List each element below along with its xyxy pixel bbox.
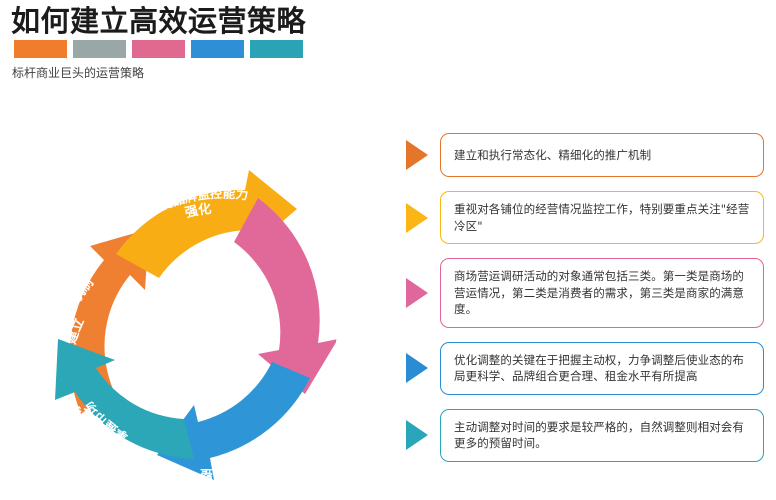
segment-pink-line1: 做好 <box>316 297 335 326</box>
segment-pink: 做好 商场营运调研工作 <box>234 198 349 394</box>
bullet-text-3: 商场营运调研活动的对象通常包括三类。第一类是商场的营运情况，第二类是消费者的需求… <box>454 268 750 318</box>
bullet-row-4: 优化调整的关键在于把握主动权，力争调整后使业态的布局更科学、品牌组合更合理、租金… <box>404 342 764 395</box>
page-title: 如何建立高效运营策略 <box>11 4 306 38</box>
swatch-strip <box>14 40 303 58</box>
play-arrow-icon-1 <box>404 138 430 172</box>
bullet-row-1: 建立和执行常态化、精细化的推广机制 <box>404 133 764 177</box>
swatch-gray <box>73 40 126 58</box>
bullet-text-2: 重视对各铺位的经营情况监控工作，特别要重点关注"经营冷区" <box>454 201 750 234</box>
bullet-row-2: 重视对各铺位的经营情况监控工作，特别要重点关注"经营冷区" <box>404 191 764 244</box>
bullet-text-1: 建立和执行常态化、精细化的推广机制 <box>454 147 651 164</box>
cycle-diagram: 建立 常态化营运推广机制 强化 关键品牌监控能力 做 <box>18 128 388 496</box>
slide-canvas: 如何建立高效运营策略 标杆商业巨头的运营策略 <box>0 0 776 500</box>
play-arrow-icon-5 <box>404 418 430 452</box>
segment-teal: 掌握市场 及租户的需求 <box>55 339 194 462</box>
page-subtitle: 标杆商业巨头的运营策略 <box>12 64 144 82</box>
play-arrow-icon-4 <box>404 351 430 385</box>
bullet-text-4: 优化调整的关键在于把握主动权，力争调整后使业态的布局更科学、品牌组合更合理、租金… <box>454 352 750 385</box>
bullet-box-3[interactable]: 商场营运调研活动的对象通常包括三类。第一类是商场的营运情况，第二类是消费者的需求… <box>440 258 764 328</box>
bullet-row-3: 商场营运调研活动的对象通常包括三类。第一类是商场的营运情况，第二类是消费者的需求… <box>404 258 764 328</box>
play-arrow-icon-3 <box>404 276 430 310</box>
swatch-blue <box>191 40 244 58</box>
bullet-box-1[interactable]: 建立和执行常态化、精细化的推广机制 <box>440 133 764 177</box>
bullet-list: 建立和执行常态化、精细化的推广机制 重视对各铺位的经营情况监控工作，特别要重点关… <box>404 133 764 476</box>
swatch-pink <box>132 40 185 58</box>
header: 如何建立高效运营策略 标杆商业巨头的运营策略 <box>0 0 776 95</box>
bullet-box-4[interactable]: 优化调整的关键在于把握主动权，力争调整后使业态的布局更科学、品牌组合更合理、租金… <box>440 342 764 395</box>
play-arrow-icon-2 <box>404 201 430 235</box>
bullet-text-5: 主动调整对时间的要求是较严格的，自然调整则相对会有更多的预留时间。 <box>454 419 750 452</box>
swatch-teal <box>250 40 303 58</box>
swatch-orange <box>14 40 67 58</box>
bullet-box-5[interactable]: 主动调整对时间的要求是较严格的，自然调整则相对会有更多的预留时间。 <box>440 409 764 462</box>
bullet-row-5: 主动调整对时间的要求是较严格的，自然调整则相对会有更多的预留时间。 <box>404 409 764 462</box>
bullet-box-2[interactable]: 重视对各铺位的经营情况监控工作，特别要重点关注"经营冷区" <box>440 191 764 244</box>
